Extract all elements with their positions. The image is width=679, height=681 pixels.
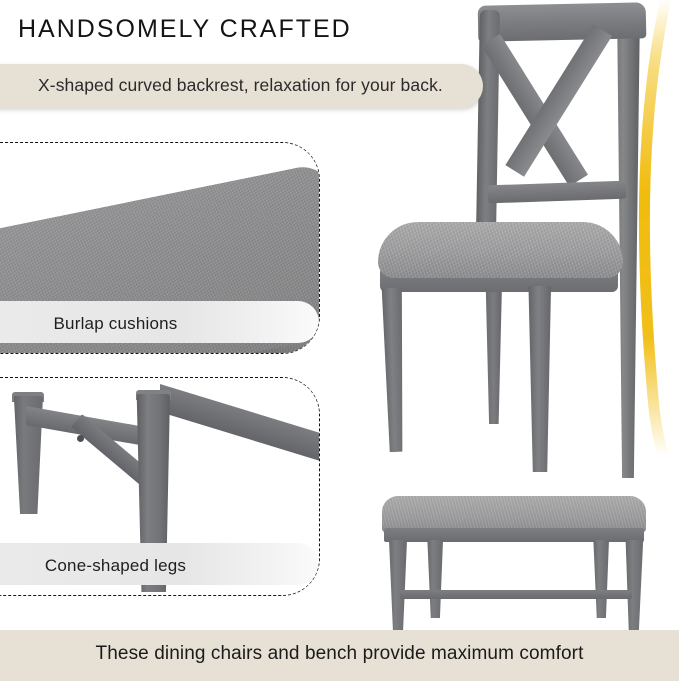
bench-leg-back-left (426, 540, 443, 618)
bench-leg-back-right (592, 540, 609, 618)
chair-leg-front-right (528, 286, 552, 472)
cone-legs-photo: Cone-shaped legs (0, 378, 319, 595)
bench-leg-front-left (387, 540, 407, 632)
chair-crest-rail (478, 2, 647, 42)
bench-leg-front-right (624, 540, 644, 632)
bench-stretcher (400, 590, 632, 599)
bottom-caption-text: These dining chairs and bench provide ma… (0, 643, 679, 665)
burlap-cushion-photo: Burlap cushions (0, 143, 319, 353)
page-title: HANDSOMELY CRAFTED (18, 15, 352, 44)
chair-leg-back-left (485, 284, 502, 424)
feature-panel-cone-shaped-legs: Cone-shaped legs (0, 377, 320, 596)
table-apron-diagonal (160, 384, 319, 461)
feature-label-burlap-cushions: Burlap cushions (0, 314, 319, 334)
product-infographic: HANDSOMELY CRAFTED (0, 0, 679, 681)
chair-leg-front-left (381, 288, 406, 452)
bench-seat-cushion (382, 496, 646, 532)
chair-seat-cushion (378, 222, 623, 278)
stretcher-screw (77, 435, 84, 442)
feature-label-cone-shaped-legs: Cone-shaped legs (0, 556, 319, 576)
chair-lower-rail (488, 181, 627, 204)
feature-panel-burlap-cushions: Burlap cushions (0, 142, 320, 354)
bench-apron (384, 528, 644, 542)
top-banner-text: X-shaped curved backrest, relaxation for… (38, 75, 443, 96)
